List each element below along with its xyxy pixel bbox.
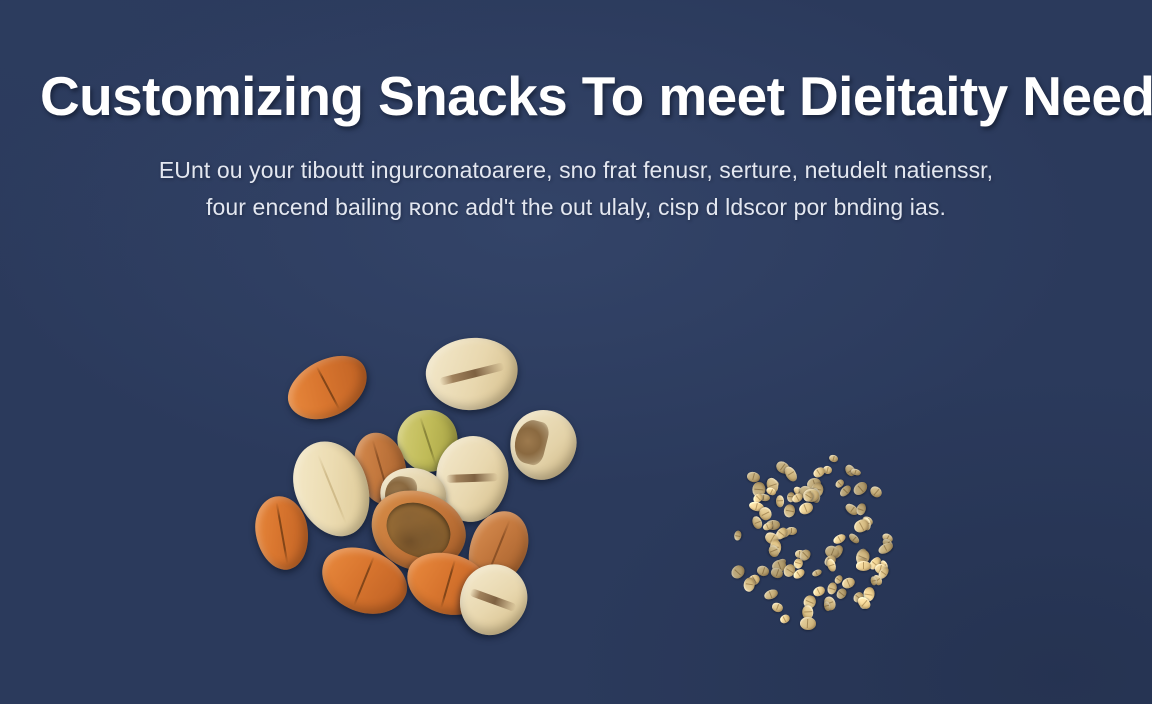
grain-seed bbox=[811, 568, 822, 578]
subtitle-line-2: four encend bailing ʀonc add't the out u… bbox=[40, 189, 1112, 226]
nut-pistachio bbox=[422, 333, 521, 414]
nut-pecan bbox=[278, 344, 378, 433]
grain-seed bbox=[799, 617, 816, 631]
slide-subtitle: EUnt ou your tiboutt ingurconatoarere, s… bbox=[40, 152, 1112, 227]
slide-text-block: Customizing Snacks To meet Dieitaity Nee… bbox=[0, 66, 1152, 226]
grain-seed bbox=[832, 532, 847, 546]
page-title: Customizing Snacks To meet Dieitaity Nee… bbox=[40, 66, 1112, 128]
grain-seed-pile-image bbox=[718, 444, 898, 636]
grain-seed bbox=[797, 501, 814, 516]
grain-seed bbox=[828, 454, 839, 464]
grain-seed bbox=[856, 561, 871, 571]
grain-seed bbox=[729, 563, 747, 581]
grain-seed bbox=[869, 485, 885, 501]
subtitle-line-1: EUnt ou your tiboutt ingurconatoarere, s… bbox=[40, 152, 1112, 189]
slide-canvas: Customizing Snacks To meet Dieitaity Nee… bbox=[0, 0, 1152, 704]
grain-seed bbox=[779, 613, 791, 625]
grain-seed bbox=[763, 588, 779, 601]
grain-seed bbox=[876, 541, 893, 555]
grain-seed bbox=[783, 503, 797, 518]
grain-seed bbox=[847, 532, 861, 546]
mixed-nuts-cluster-image bbox=[248, 332, 588, 662]
grain-seed bbox=[851, 479, 870, 497]
grain-seed bbox=[812, 585, 826, 598]
grain-seed bbox=[771, 601, 785, 613]
grain-seed bbox=[782, 465, 799, 484]
grain-seed bbox=[733, 530, 742, 541]
grain-seed bbox=[775, 495, 784, 507]
nut-halfshell bbox=[503, 403, 584, 487]
